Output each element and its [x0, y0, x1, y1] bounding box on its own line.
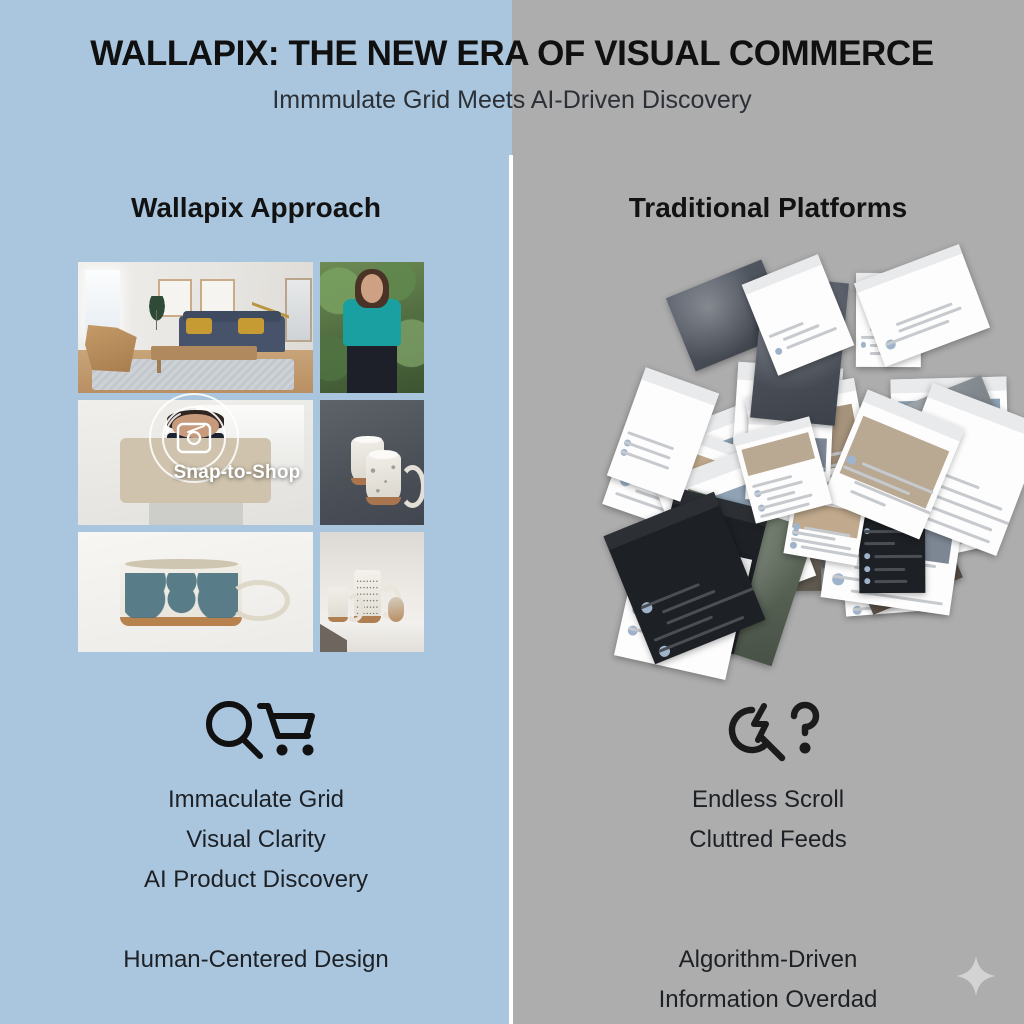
collage-card-text-line	[874, 555, 923, 558]
cluttered-feed-collage	[580, 250, 964, 664]
sofa-cushion-right	[238, 318, 264, 334]
spacer	[26, 900, 486, 940]
infographic-canvas: WALLAPIX: THE NEW ERA OF VISUAL COMMERCE…	[0, 0, 1024, 1024]
left-benefit-list: Immaculate Grid Visual Clarity AI Produc…	[26, 780, 486, 980]
model-face	[172, 414, 219, 438]
sparkle-star-icon	[954, 954, 998, 998]
right-tagline-line-2: Information Overdad	[538, 980, 998, 1020]
right-problem-list: Endless Scroll Cluttred Feeds Algorithm-…	[538, 780, 998, 1020]
collage-card-text-line	[864, 542, 896, 545]
left-tagline: Human-Centered Design	[26, 940, 486, 980]
mug-tipped	[388, 597, 405, 622]
collage-card-text-line	[786, 327, 837, 350]
right-column-heading: Traditional Platforms	[538, 192, 998, 224]
model-skirt	[347, 338, 397, 393]
tile-living-room[interactable]	[78, 262, 313, 393]
spacer	[538, 860, 998, 940]
collage-card-text-line	[654, 615, 714, 641]
search-cart-icon	[196, 694, 324, 766]
mug-leaf-pattern	[125, 573, 238, 619]
collage-card-header	[854, 244, 962, 293]
collage-card-avatar	[790, 541, 798, 549]
tile-shelf-mugs[interactable]	[320, 532, 424, 652]
list-item: Endless Scroll	[538, 780, 998, 820]
collage-card-avatar	[864, 553, 870, 559]
mug-small-handle	[345, 594, 364, 621]
search-broken-question-icon	[706, 694, 834, 766]
list-item: AI Product Discovery	[26, 860, 486, 900]
collage-card-avatar	[864, 566, 870, 572]
collage-card-text-line	[874, 568, 905, 571]
collage-card-avatar	[774, 347, 784, 357]
mug-speckle-texture	[366, 458, 401, 501]
page-title: WALLAPIX: THE NEW ERA OF VISUAL COMMERCE	[0, 34, 1024, 74]
mug-handle	[399, 465, 424, 508]
panel-divider	[509, 155, 513, 1024]
mug-handle	[228, 580, 290, 621]
collage-card-text-line	[874, 580, 908, 583]
collage-card-header	[642, 367, 720, 405]
left-column-heading: Wallapix Approach	[26, 192, 486, 224]
collage-card-avatar	[864, 578, 870, 584]
shelf-surface	[320, 621, 424, 652]
collage-card-text-line	[641, 583, 701, 609]
list-item: Immaculate Grid	[26, 780, 486, 820]
collage-card-text-line	[662, 589, 716, 613]
snap-to-shop-label: Snap-to-Shop	[112, 462, 362, 484]
room-plant	[144, 296, 170, 330]
page-subtitle: Immmulate Grid Meets AI-Driven Discovery	[0, 85, 1024, 115]
room-coffee-table	[151, 346, 257, 360]
list-item: Cluttred Feeds	[538, 820, 998, 860]
list-item: Visual Clarity	[26, 820, 486, 860]
right-tagline-line-1: Algorithm-Driven	[538, 940, 998, 980]
header: WALLAPIX: THE NEW ERA OF VISUAL COMMERCE…	[0, 34, 1024, 115]
tile-leaf-mug[interactable]	[78, 532, 313, 652]
model-face	[361, 274, 384, 303]
tile-teal-jacket[interactable]	[320, 262, 424, 393]
collage-card-avatar	[860, 342, 866, 348]
immaculate-product-grid	[78, 262, 424, 648]
sofa-cushion-left	[186, 318, 212, 334]
